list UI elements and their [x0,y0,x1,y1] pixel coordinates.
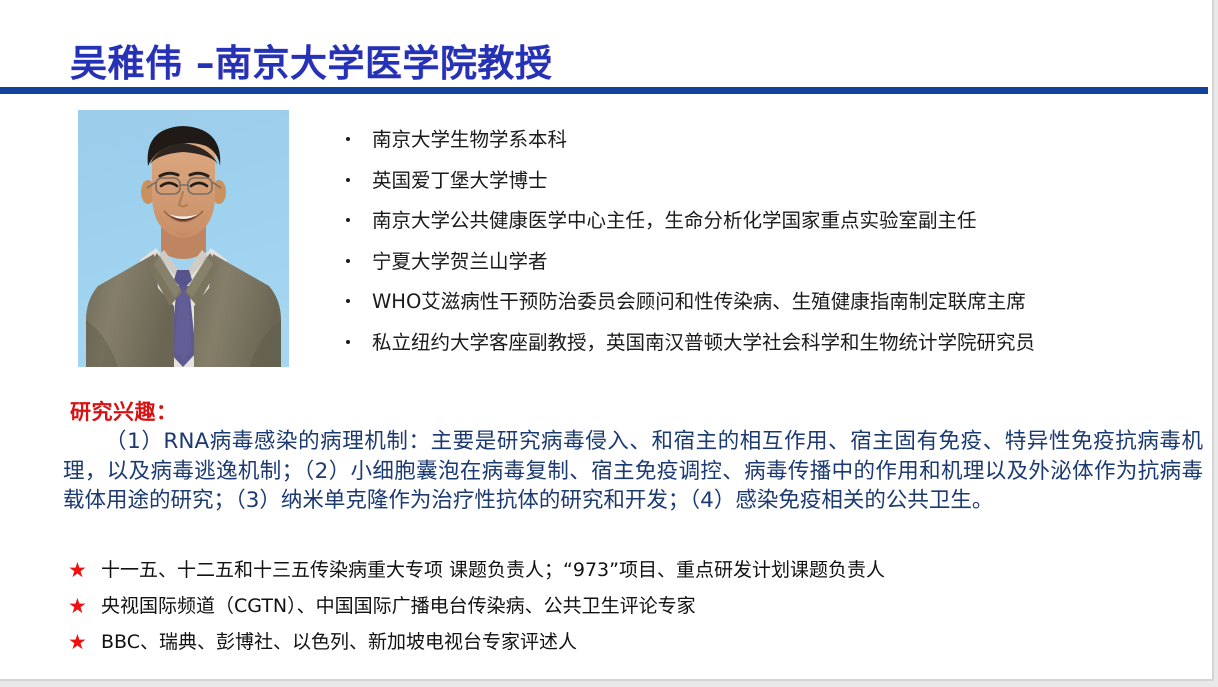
research-interests-body: （1）RNA病毒感染的病理机制：主要是研究病毒侵入、和宿主的相互作用、宿主固有免… [63,427,1203,516]
list-item-label: 南京大学生物学系本科 [372,128,567,151]
list-item: 南京大学生物学系本科 [341,127,1209,153]
list-item-label: BBC、瑞典、彭博社、以色列、新加坡电视台专家评述人 [101,631,577,653]
list-item-label: 南京大学公共健康医学中心主任，生命分析化学国家重点实验室副主任 [372,209,977,232]
bullet-dot-icon [346,178,350,182]
list-item: 南京大学公共健康医学中心主任，生命分析化学国家重点实验室副主任 [341,208,1209,234]
list-item-label: 英国爱丁堡大学博士 [372,169,548,192]
portrait-photo [78,110,289,367]
list-item: 英国爱丁堡大学博士 [341,168,1209,194]
list-item: ★ 央视国际频道（CGTN）、中国国际广播电台传染病、公共卫生评论专家 [68,588,1188,624]
list-item-label: WHO艾滋病性干预防治委员会顾问和性传染病、生殖健康指南制定联席主席 [372,290,1026,313]
list-item: WHO艾滋病性干预防治委员会顾问和性传染病、生殖健康指南制定联席主席 [341,289,1209,315]
list-item-label: 宁夏大学贺兰山学者 [372,250,548,273]
list-item-label: 央视国际频道（CGTN）、中国国际广播电台传染病、公共卫生评论专家 [101,595,696,617]
highlights-list: ★ 十一五、十二五和十三五传染病重大专项 课题负责人；“973”项目、重点研发计… [68,552,1188,660]
star-icon: ★ [68,588,87,624]
list-item-label: 十一五、十二五和十三五传染病重大专项 课题负责人；“973”项目、重点研发计划课… [101,559,885,581]
list-item: ★ 十一五、十二五和十三五传染病重大专项 课题负责人；“973”项目、重点研发计… [68,552,1188,588]
page-title: 吴稚伟 –南京大学医学院教授 [70,33,552,87]
star-icon: ★ [68,624,87,660]
list-item: 私立纽约大学客座副教授，英国南汉普顿大学社会科学和生物统计学院研究员 [341,330,1209,356]
slide: 吴稚伟 –南京大学医学院教授 [0,0,1214,681]
star-icon: ★ [68,552,87,588]
bullet-dot-icon [346,299,350,303]
list-item: ★ BBC、瑞典、彭博社、以色列、新加坡电视台专家评述人 [68,624,1188,660]
portrait-illustration [78,110,289,367]
bullet-dot-icon [346,137,350,141]
list-item: 宁夏大学贺兰山学者 [341,249,1209,275]
bullet-dot-icon [346,218,350,222]
bullet-dot-icon [346,259,350,263]
title-divider-bar [0,87,1208,94]
bullet-dot-icon [346,340,350,344]
credentials-list: 南京大学生物学系本科 英国爱丁堡大学博士 南京大学公共健康医学中心主任，生命分析… [341,127,1209,370]
list-item-label: 私立纽约大学客座副教授，英国南汉普顿大学社会科学和生物统计学院研究员 [372,331,1035,354]
research-interests-heading: 研究兴趣： [70,396,178,426]
